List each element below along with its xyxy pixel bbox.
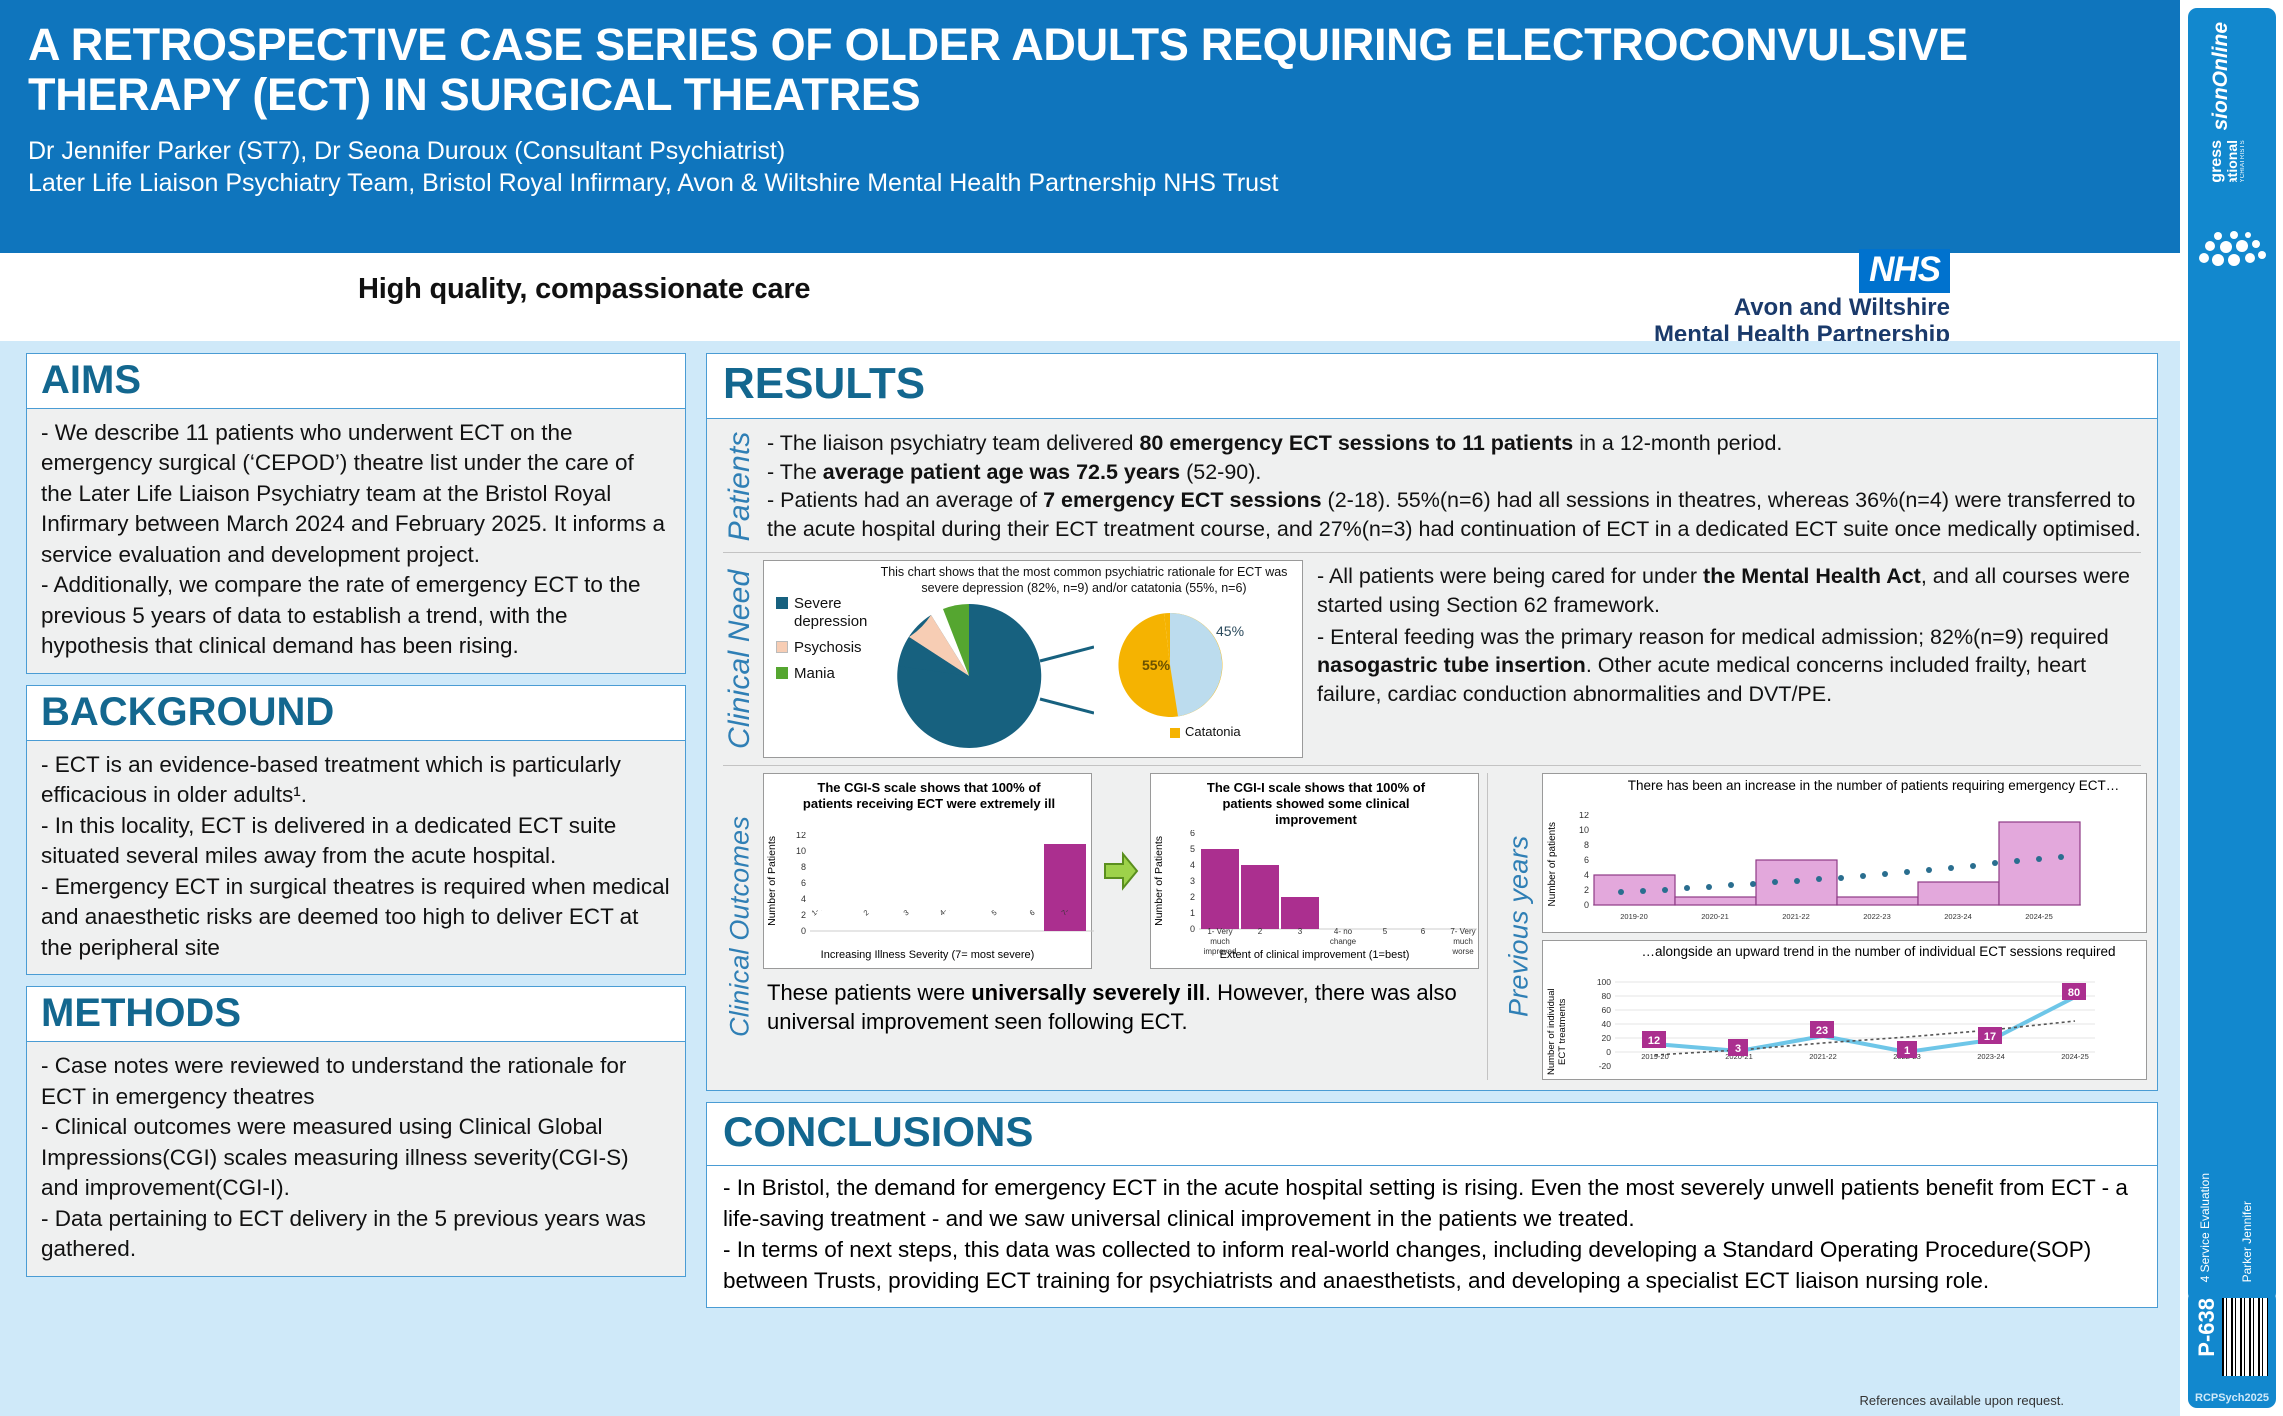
svg-text:7- Very: 7- Very	[1450, 927, 1475, 936]
legend-item-severe-depression: Severe depression	[776, 595, 886, 630]
svg-text:4: 4	[1584, 870, 1589, 880]
svg-text:2019-20: 2019-20	[1620, 912, 1648, 921]
cgi-s-xlabel: Increasing Illness Severity (7= most sev…	[764, 949, 1091, 961]
nhs-mark: NHS	[1859, 249, 1950, 293]
divider-1	[723, 552, 2141, 553]
svg-text:2024-25: 2024-25	[2061, 1052, 2089, 1061]
svg-text:2024-25: 2024-25	[2025, 912, 2053, 921]
right-column: RESULTS Patients - The liaison psychiatr…	[706, 353, 2158, 1308]
svg-text:12: 12	[1579, 812, 1589, 820]
svg-text:60: 60	[1602, 1005, 1612, 1015]
svg-text:1- Very: 1- Very	[1207, 927, 1232, 936]
sessions-label-2019-20: 12	[1648, 1035, 1660, 1047]
svg-text:2019-20: 2019-20	[1641, 1052, 1669, 1061]
conclusions-text: - In Bristol, the demand for emergency E…	[723, 1173, 2141, 1296]
svg-text:change: change	[1330, 937, 1357, 946]
methods-card: METHODS - Case notes were reviewed to un…	[26, 986, 686, 1276]
svg-text:6: 6	[801, 878, 806, 888]
nhs-trust-name-1: Avon and Wiltshire	[1654, 295, 1950, 322]
background-text: - ECT is an evidence-based treatment whi…	[41, 750, 671, 963]
poster-header: A RETROSPECTIVE CASE SERIES OF OLDER ADU…	[0, 0, 2180, 253]
legend-label-catatonia: Catatonia	[1185, 724, 1241, 739]
clinical-outcomes-block: Clinical Outcomes The CGI-S scale shows …	[717, 773, 1479, 1080]
rail-category: 4 Service Evaluation	[2198, 1173, 2212, 1282]
previous-years-block: Previous years There has been an increas…	[1496, 773, 2147, 1080]
svg-text:10: 10	[796, 846, 806, 856]
svg-text:40: 40	[1602, 1019, 1612, 1029]
svg-text:3: 3	[902, 910, 911, 918]
svg-text:2: 2	[1190, 892, 1195, 902]
sessions-per-year-title: …alongside an upward trend in the number…	[1623, 944, 2134, 961]
outcomes-summary: These patients were universally severely…	[763, 978, 1479, 1036]
svg-text:10: 10	[1579, 825, 1589, 835]
svg-text:80: 80	[1602, 991, 1612, 1001]
conclusions-card: CONCLUSIONS - In Bristol, the demand for…	[706, 1102, 2158, 1307]
authors-line-1: Dr Jennifer Parker (ST7), Dr Seona Durou…	[28, 135, 2152, 167]
clinical-need-bullets: - All patients were being cared for unde…	[1303, 560, 2147, 758]
svg-text:2021-22: 2021-22	[1809, 1052, 1837, 1061]
rail-poster-id: P-638	[2194, 1298, 2220, 1357]
svg-text:20: 20	[1602, 1033, 1612, 1043]
legend-swatch-severe-depression	[776, 597, 788, 609]
cgi-s-ylabel: Number of Patients	[766, 836, 778, 926]
clinical-outcomes-side-label: Clinical Outcomes	[717, 773, 763, 1080]
patients-per-year-ylabel: Number of patients	[1547, 822, 1558, 907]
svg-text:0: 0	[1584, 900, 1589, 910]
sessions-label-2021-22: 23	[1816, 1025, 1828, 1037]
legend-swatch-catatonia	[1170, 728, 1180, 738]
previous-years-side-label: Previous years	[1496, 773, 1542, 1080]
rail-poster-id-panel[interactable]: P-638 RCPSych2025	[2188, 1290, 2276, 1408]
svg-text:5: 5	[990, 910, 999, 918]
svg-text:3: 3	[1190, 876, 1195, 886]
results-lower-row: Clinical Outcomes The CGI-S scale shows …	[717, 773, 2147, 1080]
sessions-label-2024-25: 80	[2068, 987, 2080, 999]
aims-heading: AIMS	[27, 354, 685, 409]
sessions-per-year-plot: 1008060 40200-20	[1585, 979, 2105, 1079]
svg-text:6: 6	[1421, 927, 1426, 936]
svg-text:4: 4	[1190, 860, 1195, 870]
rail-author: Parker Jennifer	[2240, 1201, 2254, 1282]
svg-text:8: 8	[1584, 840, 1589, 850]
cgi-i-ylabel: Number of Patients	[1153, 836, 1165, 926]
svg-text:5: 5	[1190, 844, 1195, 854]
pie-legend: Severe depression Psychosis Mania	[776, 595, 886, 691]
svg-text:much: much	[1210, 937, 1230, 946]
svg-text:1- not ill at all: 1- not ill at all	[810, 910, 851, 918]
legend-swatch-mania	[776, 667, 788, 679]
svg-text:2: 2	[862, 910, 871, 918]
patients-per-year-chart: There has been an increase in the number…	[1542, 773, 2147, 933]
aims-text: - We describe 11 patients who underwent …	[41, 418, 671, 662]
svg-text:6: 6	[1028, 910, 1037, 918]
sessions-label-2023-24: 17	[1984, 1031, 1996, 1043]
cgi-i-xlabel: Extent of clinical improvement (1=best)	[1151, 949, 1478, 961]
rail-main-panel[interactable]: 4 Service Evaluation Parker Jennifer	[2188, 182, 2276, 1302]
legend-label-mania: Mania	[794, 665, 835, 682]
patients-per-year-plot: 12108 6420	[1561, 812, 2091, 932]
authors-affiliation: Later Life Liaison Psychiatry Team, Bris…	[28, 167, 2152, 199]
patients-bullets: - The liaison psychiatry team delivered …	[763, 427, 2147, 545]
svg-text:7- extremely ill: 7- extremely ill	[1060, 910, 1104, 918]
svg-text:6: 6	[1584, 855, 1589, 865]
patients-bullet-2: - The average patient age was 72.5 years…	[767, 458, 2143, 487]
svg-text:6: 6	[1190, 830, 1195, 838]
patients-bullet-1: - The liaison psychiatry team delivered …	[767, 429, 2143, 458]
cgi-s-chart: The CGI-S scale shows that 100% of patie…	[763, 773, 1092, 969]
svg-text:4: 4	[801, 894, 806, 904]
conclusions-heading: CONCLUSIONS	[707, 1103, 2157, 1166]
patients-side-label: Patients	[717, 427, 763, 545]
svg-text:0: 0	[1606, 1047, 1611, 1057]
legend-label-psychosis: Psychosis	[794, 639, 862, 656]
sessions-label-2020-21: 3	[1735, 1043, 1741, 1055]
cgi-i-title: The CGI-I scale shows that 100% of patie…	[1181, 780, 1451, 828]
pie-chart-title: This chart shows that the most common ps…	[874, 565, 1294, 596]
rail-congress-code: RCPSych2025	[2188, 1392, 2276, 1404]
patients-bullet-3: - Patients had an average of 7 emergency…	[767, 486, 2143, 543]
patients-per-year-title: There has been an increase in the number…	[1613, 778, 2134, 795]
svg-text:2023-24: 2023-24	[1977, 1052, 2005, 1061]
svg-text:4- no: 4- no	[1334, 927, 1353, 936]
svg-text:1: 1	[1190, 908, 1195, 918]
results-card: RESULTS Patients - The liaison psychiatr…	[706, 353, 2158, 1091]
left-column: AIMS - We describe 11 patients who under…	[26, 353, 686, 1288]
legend-item-mania: Mania	[776, 665, 886, 682]
pie-main-svg	[894, 601, 1094, 751]
svg-text:2: 2	[1584, 885, 1589, 895]
branding-band: High quality, compassionate care NHS Avo…	[0, 253, 2180, 341]
methods-text: - Case notes were reviewed to understand…	[41, 1051, 671, 1264]
svg-text:4- moderately: 4- moderately	[938, 910, 980, 918]
secondary-pie-label-catatonia-pct: 55%	[1142, 657, 1170, 673]
results-patients-row: Patients - The liaison psychiatry team d…	[717, 427, 2147, 545]
trust-tagline: High quality, compassionate care	[358, 273, 810, 306]
svg-text:100: 100	[1597, 979, 1611, 987]
svg-text:-20: -20	[1599, 1061, 1612, 1071]
background-heading: BACKGROUND	[27, 686, 685, 741]
clinical-need-side-label: Clinical Need	[717, 560, 763, 758]
legend-item-psychosis: Psychosis	[776, 639, 886, 656]
svg-text:12: 12	[796, 832, 806, 840]
clinical-need-pie-chart: This chart shows that the most common ps…	[763, 560, 1303, 758]
aims-card: AIMS - We describe 11 patients who under…	[26, 353, 686, 674]
svg-text:2: 2	[1258, 927, 1263, 936]
poster-canvas: A RETROSPECTIVE CASE SERIES OF OLDER ADU…	[0, 0, 2180, 1416]
svg-text:8: 8	[801, 862, 806, 872]
svg-text:much: much	[1453, 937, 1473, 946]
cgi-i-chart: The CGI-I scale shows that 100% of patie…	[1150, 773, 1479, 969]
sessions-label-2022-23: 1	[1904, 1045, 1910, 1057]
svg-text:2021-22: 2021-22	[1782, 912, 1810, 921]
results-clinical-need-row: Clinical Need This chart shows that the …	[717, 560, 2147, 758]
clinical-need-bullet-2: - Enteral feeding was the primary reason…	[1317, 623, 2143, 709]
sessions-per-year-chart: …alongside an upward trend in the number…	[1542, 940, 2147, 1080]
methods-heading: METHODS	[27, 987, 685, 1042]
results-heading: RESULTS	[707, 354, 2157, 419]
clinical-need-bullet-1: - All patients were being cared for unde…	[1317, 562, 2143, 619]
barcode-icon	[2222, 1298, 2268, 1376]
congress-dots-icon	[2194, 228, 2268, 270]
page-title: A RETROSPECTIVE CASE SERIES OF OLDER ADU…	[28, 20, 2152, 121]
divider-2	[723, 765, 2141, 766]
secondary-pie-legend-catatonia: Catatonia	[1170, 724, 1241, 739]
cgi-s-xticks: 1- not ill at all 2 3 4- moderately 5 6 …	[782, 910, 1112, 972]
right-rail: PosterSessionOnline ROYAL COLLEGE OF PSY…	[2180, 0, 2283, 1416]
svg-text:2022-23: 2022-23	[1863, 912, 1891, 921]
secondary-pie-label-other-pct: 45%	[1216, 623, 1244, 639]
svg-text:2020-21: 2020-21	[1701, 912, 1729, 921]
cgi-s-title: The CGI-S scale shows that 100% of patie…	[794, 780, 1064, 812]
svg-text:2023-24: 2023-24	[1944, 912, 1972, 921]
background-card: BACKGROUND - ECT is an evidence-based tr…	[26, 685, 686, 975]
svg-text:3: 3	[1298, 927, 1303, 936]
legend-swatch-psychosis	[776, 641, 788, 653]
references-note: References available upon request.	[1859, 1393, 2064, 1408]
svg-text:5: 5	[1383, 927, 1388, 936]
legend-label-severe-depression: Severe depression	[794, 595, 886, 630]
